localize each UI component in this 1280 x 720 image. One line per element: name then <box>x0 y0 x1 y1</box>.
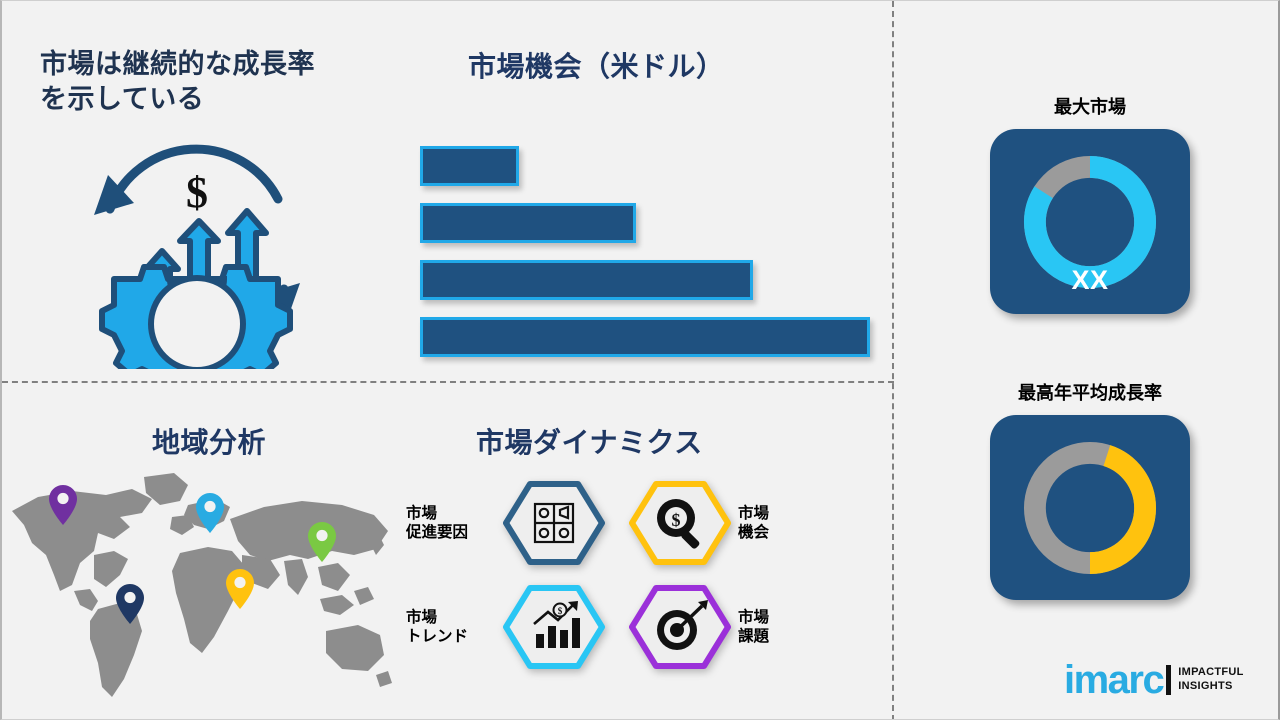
imarc-logo: imarc IMPACTFUL INSIGHTS <box>1064 657 1244 703</box>
dynamics-section-title: 市場ダイナミクス <box>476 425 703 461</box>
hexagon-challenges <box>628 584 732 670</box>
dynamics-label-drivers: 市場 促進要因 <box>406 504 498 543</box>
market-opportunity-bar-chart <box>420 146 880 356</box>
infographic-slide: 市場は継続的な成長率 を示している $ <box>0 0 1280 720</box>
regional-section-title: 地域分析 <box>152 425 266 461</box>
bar-2 <box>420 203 636 243</box>
logo-divider-bar <box>1166 665 1171 695</box>
donut-highest-cagr-title: 最高年平均成長率 <box>990 379 1190 405</box>
donut-largest-market-card: XX <box>990 129 1190 314</box>
growth-cycle-gear-icon: $ <box>72 129 322 369</box>
pin-europe <box>195 492 225 534</box>
pin-middle-east-africa <box>225 568 255 610</box>
bar-4 <box>420 317 870 357</box>
logo-wordmark: imarc <box>1064 660 1163 700</box>
bar-3 <box>420 260 753 300</box>
vertical-divider <box>892 1 894 720</box>
hexagon-opportunity: $ <box>628 480 732 566</box>
logo-tagline: IMPACTFUL INSIGHTS <box>1178 666 1243 694</box>
bar-row <box>420 317 870 357</box>
donut-largest-market-value: XX <box>990 265 1190 296</box>
hexagon-drivers <box>502 480 606 566</box>
svg-text:$: $ <box>558 606 563 616</box>
growth-section-title: 市場は継続的な成長率 を示している <box>40 47 390 116</box>
dynamics-item-challenges[interactable]: 市場 課題 <box>628 583 830 671</box>
donut-highest-cagr: 最高年平均成長率 XX% <box>990 379 1190 600</box>
horizontal-divider <box>2 381 894 383</box>
bar-row <box>420 146 519 186</box>
svg-text:$: $ <box>186 168 208 217</box>
donut-highest-cagr-card: XX% <box>990 415 1190 600</box>
dynamics-label-challenges: 市場 課題 <box>738 608 830 647</box>
hexagon-trends: $ <box>502 584 606 670</box>
dynamics-item-opportunity[interactable]: $ 市場 機会 <box>628 479 830 567</box>
world-map <box>2 459 402 709</box>
pin-asia <box>307 521 337 563</box>
dynamics-label-opportunity: 市場 機会 <box>738 504 830 543</box>
puzzle-drivers-icon <box>535 504 573 542</box>
pin-south-america <box>115 583 145 625</box>
bar-row <box>420 203 636 243</box>
dynamics-item-trends[interactable]: 市場 トレンド $ <box>406 583 606 671</box>
bar-row <box>420 260 753 300</box>
donut-largest-market: 最大市場 XX <box>990 93 1190 314</box>
donut-largest-market-title: 最大市場 <box>990 93 1190 119</box>
dynamics-label-trends: 市場 トレンド <box>406 608 498 647</box>
pin-north-america <box>48 484 78 526</box>
donut-chart-cagr <box>1014 432 1166 584</box>
svg-text:$: $ <box>672 510 681 530</box>
market-dynamics-group: 市場 促進要因 <box>406 479 856 674</box>
dynamics-item-drivers[interactable]: 市場 促進要因 <box>406 479 606 567</box>
opportunity-section-title: 市場機会（米ドル） <box>468 49 725 85</box>
bar-1 <box>420 146 519 186</box>
